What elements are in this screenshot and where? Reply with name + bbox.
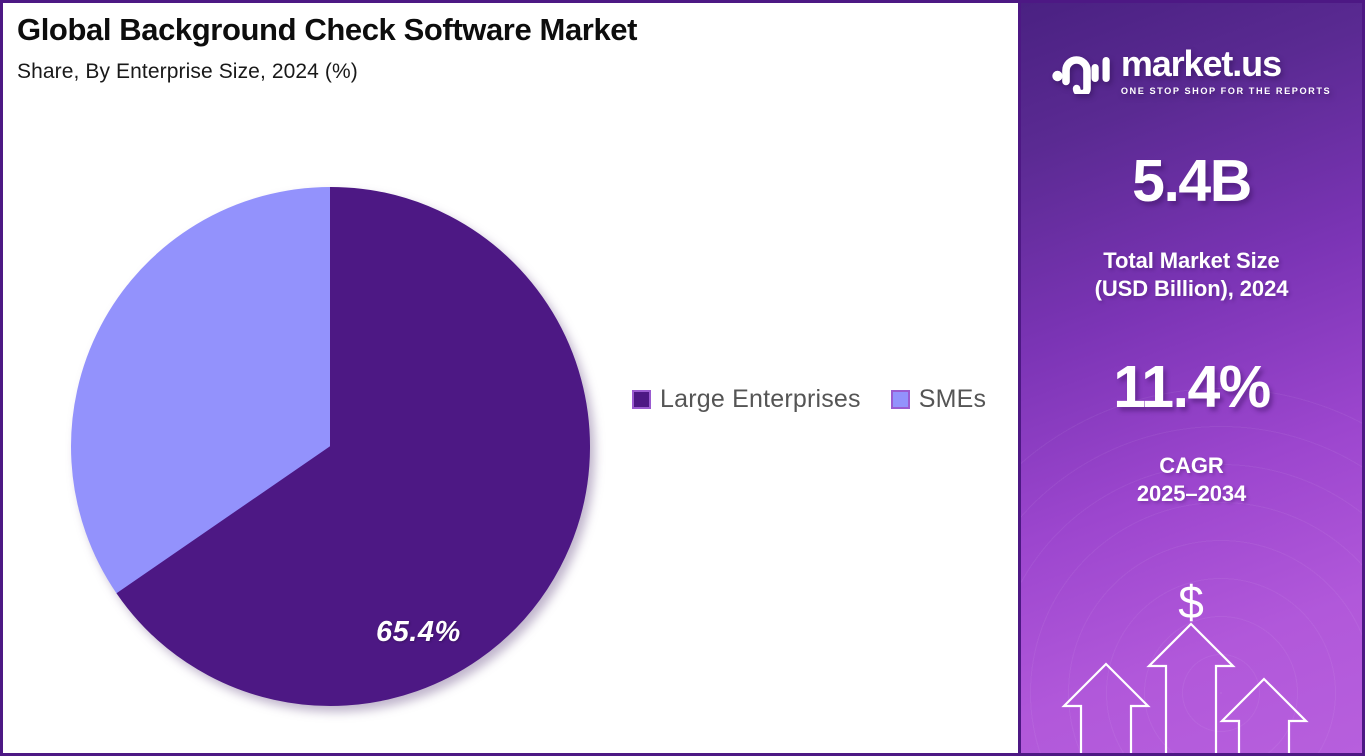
logo-text-block: market.us ONE STOP SHOP FOR THE REPORTS (1121, 46, 1331, 96)
page-subtitle: Share, By Enterprise Size, 2024 (%) (17, 59, 977, 84)
cagr-value: 11.4% (1113, 358, 1270, 417)
brand-logo[interactable]: market.us ONE STOP SHOP FOR THE REPORTS (1052, 46, 1331, 96)
cagr-caption: CAGR 2025–2034 (1137, 452, 1246, 507)
dollar-symbol-icon: $ (1178, 578, 1204, 628)
legend-swatch-icon (632, 390, 651, 409)
pie-slice-label-large-enterprises: 65.4% (376, 616, 461, 649)
cagr-caption-line1: CAGR (1137, 452, 1246, 480)
pie-svg (70, 186, 591, 707)
pie-chart: 65.4% (70, 186, 591, 707)
legend-swatch-icon (891, 390, 910, 409)
growth-arrow-left-icon (1064, 664, 1148, 753)
market-us-logo-mark-icon (1052, 48, 1110, 94)
page-title: Global Background Check Software Market (17, 11, 977, 50)
stats-panel: market.us ONE STOP SHOP FOR THE REPORTS … (1018, 0, 1365, 756)
market-size-caption: Total Market Size (USD Billion), 2024 (1095, 247, 1289, 302)
growth-arrow-center-icon (1149, 624, 1233, 753)
legend-label: SMEs (919, 385, 986, 414)
legend-item-smes[interactable]: SMEs (891, 385, 986, 414)
chart-panel: Global Background Check Software Market … (0, 0, 1018, 756)
growth-arrows-graphic: $ (1021, 578, 1362, 753)
logo-wordmark: market.us (1121, 46, 1331, 82)
cagr-caption-line2: 2025–2034 (1137, 480, 1246, 508)
market-size-caption-line2: (USD Billion), 2024 (1095, 275, 1289, 303)
legend-label: Large Enterprises (660, 385, 861, 414)
market-size-caption-line1: Total Market Size (1095, 247, 1289, 275)
logo-tagline: ONE STOP SHOP FOR THE REPORTS (1121, 86, 1331, 96)
title-block: Global Background Check Software Market … (17, 11, 977, 84)
legend-item-large-enterprises[interactable]: Large Enterprises (632, 385, 861, 414)
legend: Large Enterprises SMEs (632, 385, 986, 414)
infographic-root: Global Background Check Software Market … (0, 0, 1365, 756)
growth-arrow-right-icon (1222, 679, 1306, 753)
market-size-value: 5.4B (1132, 152, 1251, 211)
